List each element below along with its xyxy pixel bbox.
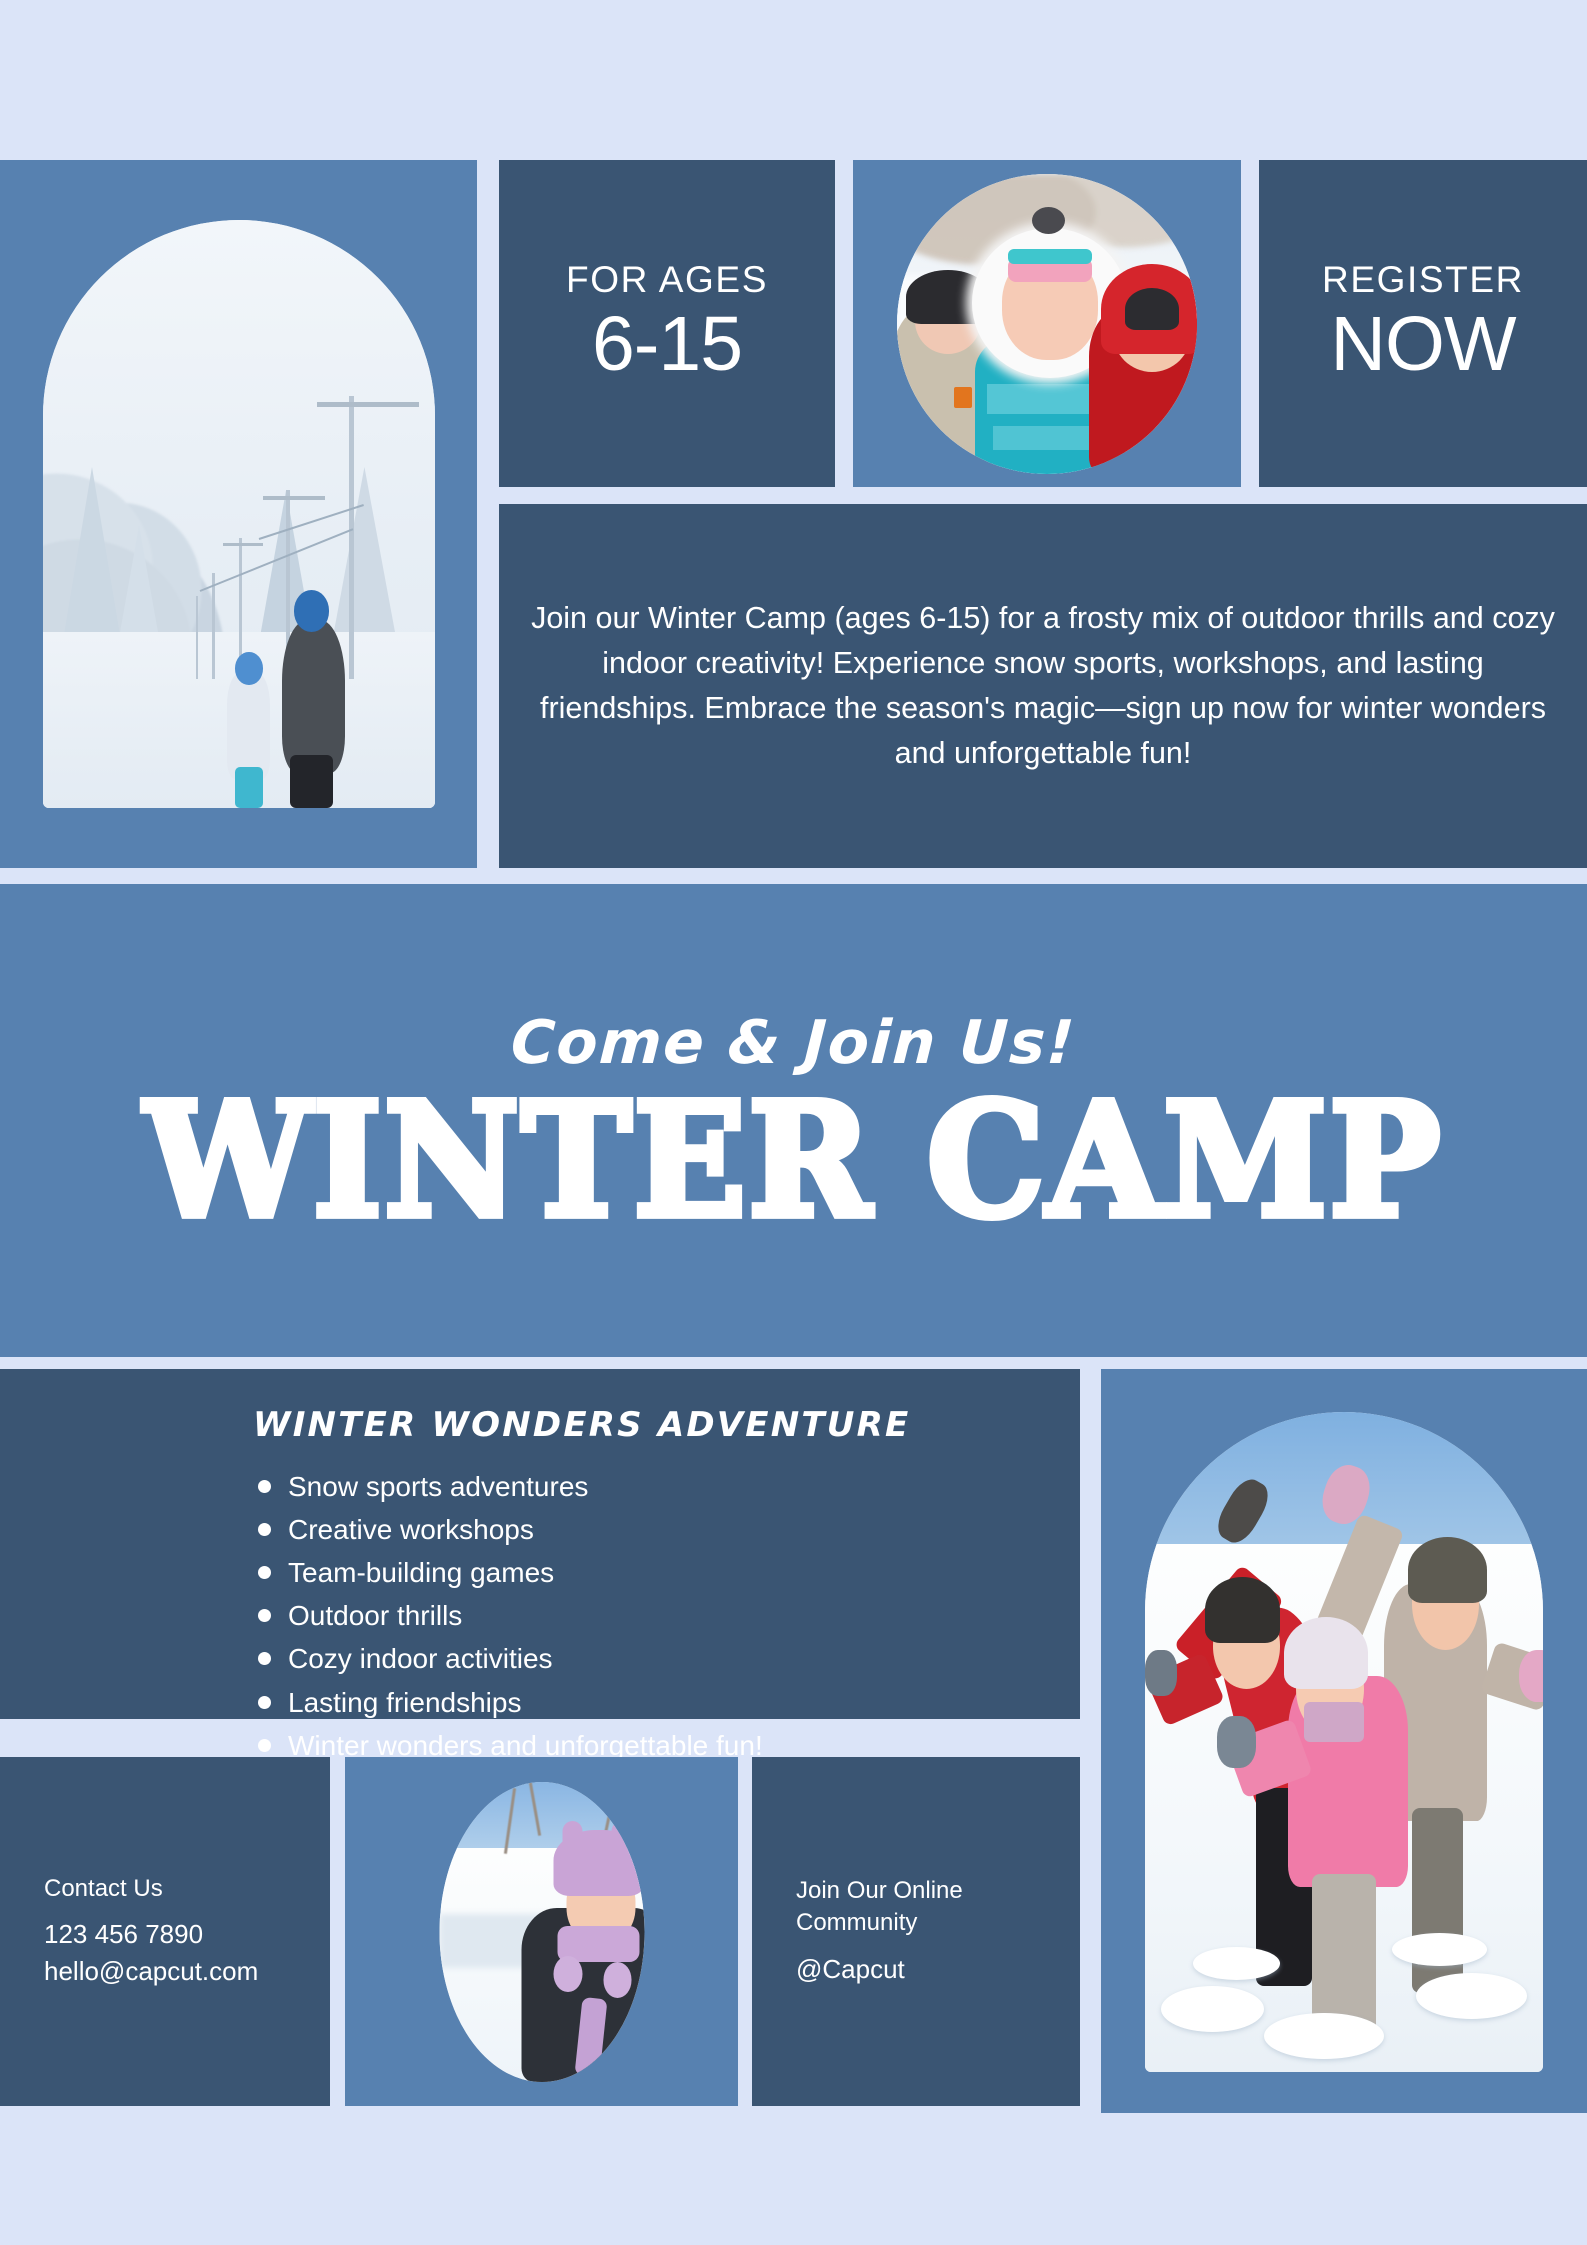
social-label-line1: Join Our Online: [796, 1875, 1080, 1907]
for-ages-label: FOR AGES: [566, 260, 768, 301]
ski-lift-photo-panel: [0, 160, 477, 868]
contact-panel: Contact Us 123 456 7890 hello@capcut.com: [0, 1757, 330, 2106]
list-item: Team-building games: [253, 1551, 1080, 1594]
jumping-kids-photo: [1145, 1412, 1543, 2072]
list-item: Outdoor thrills: [253, 1594, 1080, 1637]
girl-snowball-photo-panel: [345, 1757, 738, 2106]
contact-email[interactable]: hello@capcut.com: [44, 1953, 330, 1990]
register-action: NOW: [1330, 301, 1515, 387]
description-text: Join our Winter Camp (ages 6-15) for a f…: [499, 596, 1587, 775]
social-panel: Join Our Online Community @Capcut: [752, 1757, 1080, 2106]
page-title: WINTER CAMP: [145, 1081, 1443, 1238]
description-panel: Join our Winter Camp (ages 6-15) for a f…: [499, 504, 1587, 868]
age-range-value: 6-15: [592, 301, 742, 387]
list-item: Lasting friendships: [253, 1681, 1080, 1724]
poster-canvas: FOR AGES 6-15: [0, 0, 1587, 2245]
jumping-kids-photo-panel: [1101, 1369, 1587, 2113]
features-panel: WINTER WONDERS ADVENTURE Snow sports adv…: [0, 1369, 1080, 1719]
social-handle[interactable]: @Capcut: [796, 1951, 1080, 1988]
ski-lift-photo: [43, 220, 435, 808]
list-item: Snow sports adventures: [253, 1465, 1080, 1508]
contact-label: Contact Us: [44, 1873, 330, 1905]
kids-trio-photo-panel: [853, 160, 1241, 487]
kids-trio-photo: [897, 174, 1197, 474]
for-ages-panel: FOR AGES 6-15: [499, 160, 835, 487]
features-heading: WINTER WONDERS ADVENTURE: [0, 1369, 1080, 1465]
features-list: Snow sports adventures Creative workshop…: [0, 1465, 1080, 1767]
register-label: REGISTER: [1322, 260, 1524, 301]
list-item: Cozy indoor activities: [253, 1637, 1080, 1680]
girl-snowball-photo: [439, 1782, 644, 2082]
contact-phone[interactable]: 123 456 7890: [44, 1916, 330, 1953]
title-banner: Come & Join Us! WINTER CAMP: [0, 884, 1587, 1357]
list-item: Creative workshops: [253, 1508, 1080, 1551]
social-label-line2: Community: [796, 1907, 1080, 1939]
register-now-panel[interactable]: REGISTER NOW: [1259, 160, 1587, 487]
